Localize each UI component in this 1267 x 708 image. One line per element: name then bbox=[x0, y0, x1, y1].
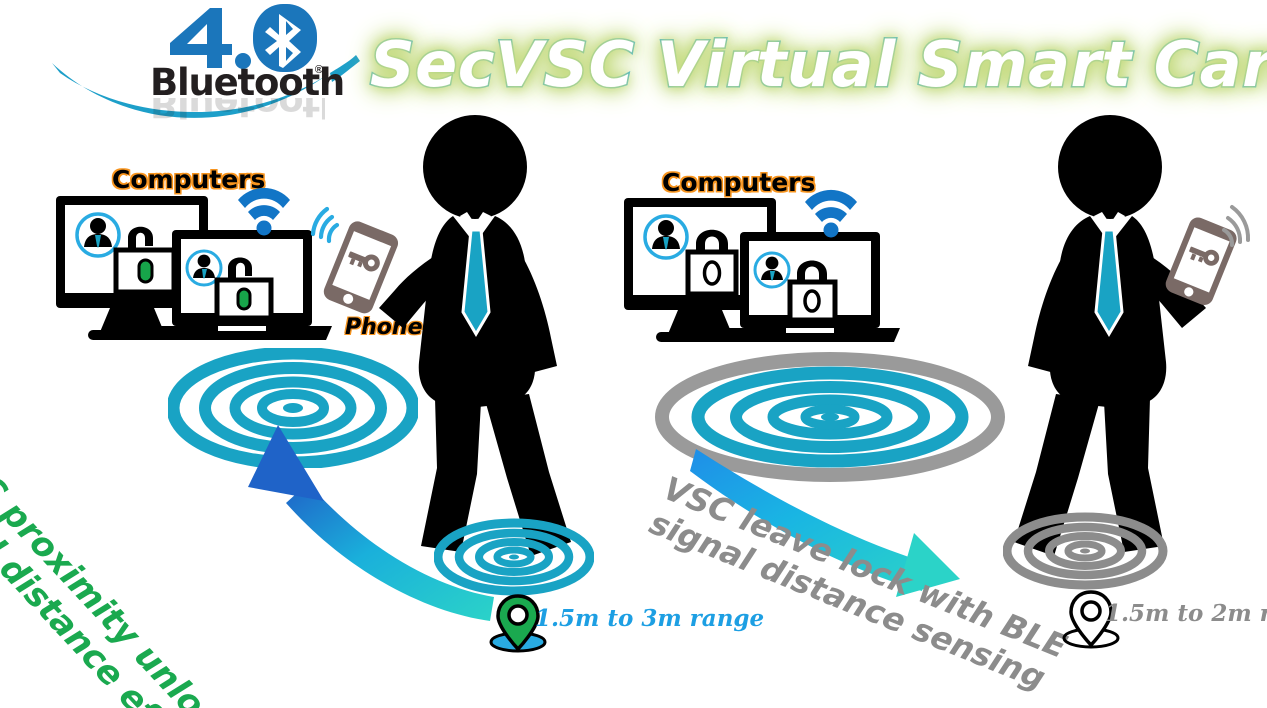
wifi-signal-icon-right bbox=[802, 188, 860, 238]
page-title: SecVSC Virtual Smart Card bbox=[370, 22, 1200, 108]
phone-icon-right bbox=[1148, 200, 1258, 315]
curved-arrow-unlock bbox=[190, 425, 500, 625]
wifi-signal-icon-left bbox=[235, 186, 293, 236]
infographic-canvas: Bluetooth ® Bluetooth SecVSC Virtual Sma… bbox=[0, 0, 1267, 708]
computer-cluster-right bbox=[608, 192, 908, 352]
registered-mark: ® bbox=[315, 64, 323, 76]
ble-ripple-small-right bbox=[1003, 512, 1168, 590]
bluetooth-wordmark-reflection: Bluetooth bbox=[150, 98, 325, 124]
walking-businessman-right bbox=[975, 112, 1220, 572]
bluetooth-logo: Bluetooth ® Bluetooth bbox=[150, 2, 325, 122]
range-label-right: 1.5m to 2m range bbox=[1105, 600, 1267, 627]
computer-cluster-left bbox=[40, 190, 340, 350]
